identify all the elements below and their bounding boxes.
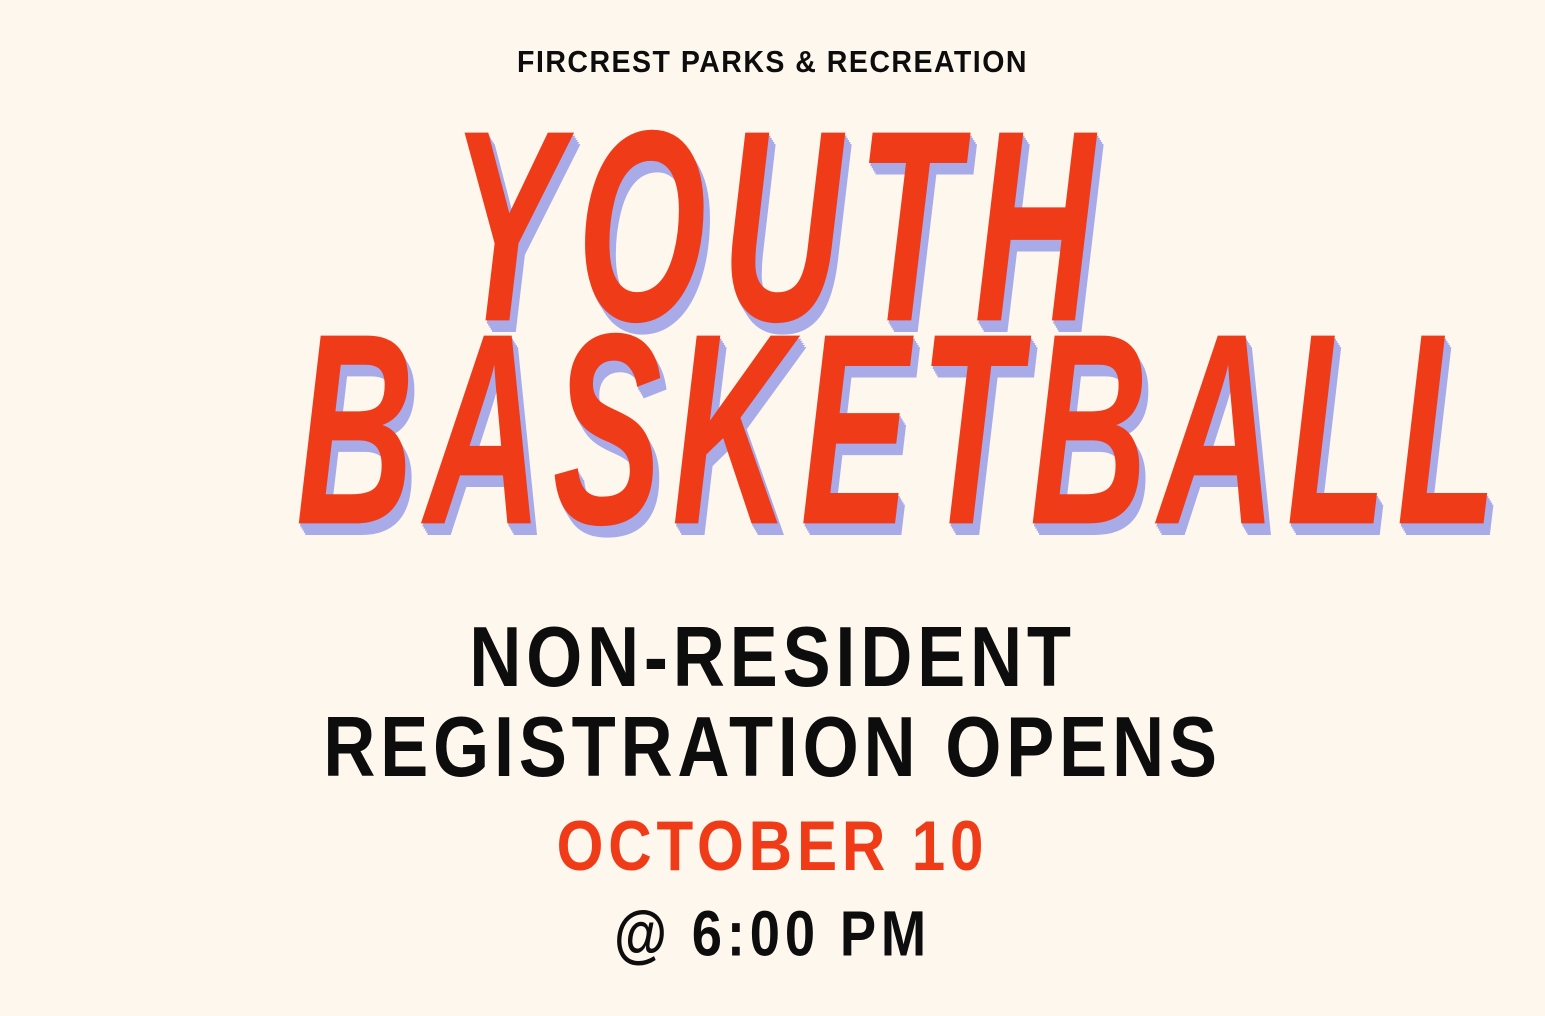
headline-block: YOUTH BASKETBALL	[0, 108, 1545, 550]
announcement-line-non-resident: NON-RESIDENT	[39, 615, 1507, 700]
poster-canvas: FIRCREST PARKS & RECREATION YOUTH BASKET…	[0, 0, 1545, 1016]
headline-line-basketball: BASKETBALL	[286, 305, 1259, 556]
announcement-time: @ 6:00 PM	[23, 902, 1522, 966]
announcement-line-registration-opens: REGISTRATION OPENS	[39, 705, 1507, 790]
announcement-date: OCTOBER 10	[23, 812, 1522, 883]
announcement-block: NON-RESIDENT REGISTRATION OPENS OCTOBER …	[0, 620, 1545, 962]
